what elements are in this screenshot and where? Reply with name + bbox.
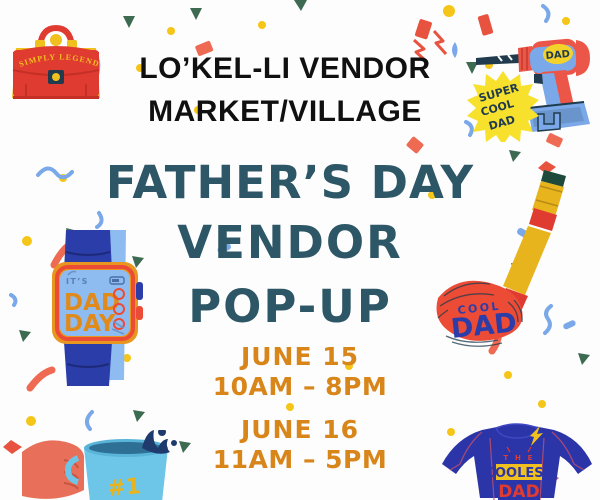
date-2: JUNE 16 xyxy=(180,415,420,445)
time-2: 11AM – 5PM xyxy=(180,445,420,475)
dates-spacer xyxy=(180,401,420,415)
jacket-line3: DAD xyxy=(498,482,539,500)
drill-label: DAD xyxy=(545,49,570,62)
market-title: LO’KEL-LI VENDOR MARKET/VILLAGE xyxy=(95,48,475,133)
time-1: 10AM – 8PM xyxy=(180,372,420,402)
jacket-line1: T H E xyxy=(503,454,534,462)
jacket-graphic: T H E COOLEST DAD xyxy=(432,422,600,500)
headline-line1: FATHER’S DAY xyxy=(80,160,500,205)
mug-label: #1 xyxy=(106,474,142,500)
jacket-line2: COOLEST xyxy=(485,466,552,481)
super-cool-dad-badge: SUPER COOL DAD xyxy=(466,70,540,142)
mug-graphic: #1 xyxy=(22,430,202,500)
market-title-line1: LO’KEL-LI VENDOR xyxy=(139,52,430,85)
event-dates: JUNE 15 10AM – 8PM JUNE 16 11AM – 5PM xyxy=(180,342,420,474)
headline-line3: POP-UP xyxy=(80,279,500,335)
event-headline: FATHER’S DAY VENDOR POP-UP xyxy=(80,160,500,336)
poster-canvas: SIMPLY LEGENDADDY DAD xyxy=(0,0,600,500)
market-title-line2: MARKET/VILLAGE xyxy=(95,91,475,134)
briefcase-graphic: SIMPLY LEGENDADDY xyxy=(2,12,110,112)
headline-line2: VENDOR xyxy=(80,215,500,271)
date-1: JUNE 15 xyxy=(180,342,420,372)
